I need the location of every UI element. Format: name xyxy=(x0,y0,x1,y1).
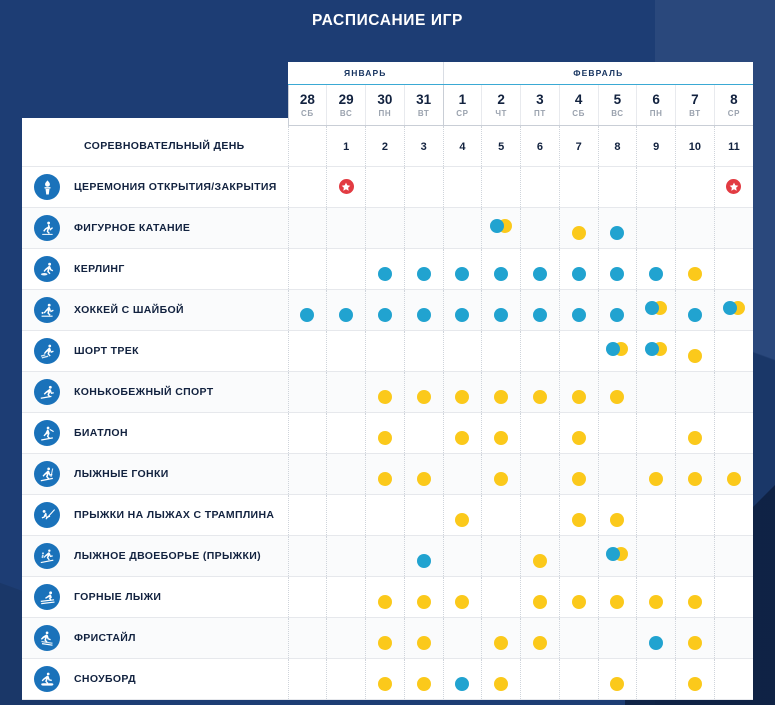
final-marker xyxy=(688,472,702,486)
yellow-dot-icon xyxy=(688,267,702,281)
schedule-cell[interactable] xyxy=(366,249,405,290)
blue-dot-icon xyxy=(417,267,431,281)
schedule-cell[interactable] xyxy=(404,249,443,290)
schedule-cell[interactable] xyxy=(482,290,521,331)
schedule-cell[interactable] xyxy=(327,167,366,208)
yellow-dot-icon xyxy=(688,636,702,650)
schedule-cell[interactable] xyxy=(288,290,327,331)
schedule-cell[interactable] xyxy=(637,290,676,331)
schedule-cell[interactable] xyxy=(366,290,405,331)
schedule-cell[interactable] xyxy=(443,372,482,413)
schedule-cell[interactable] xyxy=(676,249,715,290)
blue-dot-icon xyxy=(645,301,659,315)
date-header-5-ВС[interactable]: 5ВС xyxy=(598,85,637,126)
schedule-cell[interactable] xyxy=(521,249,560,290)
schedule-cell[interactable] xyxy=(366,331,405,372)
schedule-cell[interactable] xyxy=(598,495,637,536)
schedule-cell[interactable] xyxy=(404,331,443,372)
schedule-cell[interactable] xyxy=(559,454,598,495)
sport-label: ЛЫЖНОЕ ДВОЕБОРЬЕ (ПРЫЖКИ) xyxy=(74,550,261,562)
schedule-cell[interactable] xyxy=(637,208,676,249)
schedule-cell[interactable] xyxy=(637,454,676,495)
schedule-cell[interactable] xyxy=(482,208,521,249)
yellow-dot-icon xyxy=(494,677,508,691)
schedule-cell[interactable] xyxy=(327,577,366,618)
yellow-dot-icon xyxy=(378,390,392,404)
schedule-cell[interactable] xyxy=(404,495,443,536)
date-weekday: ВТ xyxy=(676,109,714,118)
date-header-4-СБ[interactable]: 4СБ xyxy=(559,85,598,126)
competition-day-number: 5 xyxy=(498,141,504,153)
schedule-cell[interactable] xyxy=(366,659,405,700)
short-track-icon xyxy=(34,338,60,364)
date-header-31-ВТ[interactable]: 31ВТ xyxy=(404,85,443,126)
schedule-cell[interactable] xyxy=(521,372,560,413)
schedule-cell[interactable] xyxy=(288,331,327,372)
qualification-and-final-marker xyxy=(606,547,628,561)
schedule-row: ШОРТ ТРЕК xyxy=(22,331,753,372)
schedule-cell[interactable] xyxy=(521,454,560,495)
yellow-dot-icon xyxy=(533,390,547,404)
schedule-cell[interactable] xyxy=(288,413,327,454)
date-number: 30 xyxy=(366,93,404,107)
schedule-cell[interactable] xyxy=(598,167,637,208)
schedule-cell[interactable] xyxy=(482,618,521,659)
schedule-cell[interactable] xyxy=(714,372,753,413)
schedule-cell[interactable] xyxy=(288,454,327,495)
schedule-cell[interactable] xyxy=(676,659,715,700)
schedule-cell[interactable] xyxy=(288,208,327,249)
schedule-cell[interactable] xyxy=(559,413,598,454)
schedule-cell[interactable] xyxy=(327,454,366,495)
schedule-cell[interactable] xyxy=(676,167,715,208)
schedule-cell[interactable] xyxy=(482,495,521,536)
schedule-cell[interactable] xyxy=(598,577,637,618)
final-marker xyxy=(727,472,741,486)
schedule-cell[interactable] xyxy=(714,331,753,372)
schedule-cell[interactable] xyxy=(327,372,366,413)
schedule-cell[interactable] xyxy=(637,536,676,577)
schedule-cell[interactable] xyxy=(366,577,405,618)
schedule-cell[interactable] xyxy=(637,495,676,536)
qualification-and-final-marker xyxy=(490,219,512,233)
final-marker xyxy=(417,677,431,691)
schedule-cell[interactable] xyxy=(637,167,676,208)
schedule-cell[interactable] xyxy=(714,536,753,577)
final-marker xyxy=(688,349,702,363)
sport-label-cell[interactable]: ЦЕРЕМОНИЯ ОТКРЫТИЯ/ЗАКРЫТИЯ xyxy=(22,167,288,208)
schedule-cell[interactable] xyxy=(637,372,676,413)
schedule-cell[interactable] xyxy=(288,618,327,659)
schedule-row: ЛЫЖНОЕ ДВОЕБОРЬЕ (ПРЫЖКИ) xyxy=(22,536,753,577)
schedule-cell[interactable] xyxy=(559,495,598,536)
schedule-cell[interactable] xyxy=(559,290,598,331)
date-weekday: ЧТ xyxy=(482,109,520,118)
schedule-cell[interactable] xyxy=(482,659,521,700)
final-marker xyxy=(610,595,624,609)
blue-dot-icon xyxy=(490,219,504,233)
schedule-cell[interactable] xyxy=(482,413,521,454)
yellow-dot-icon xyxy=(688,349,702,363)
competition-day-cell-6: 5 xyxy=(482,126,521,167)
final-marker xyxy=(610,677,624,691)
schedule-cell[interactable] xyxy=(404,659,443,700)
competition-day-number: 2 xyxy=(382,141,388,153)
schedule-cell[interactable] xyxy=(288,167,327,208)
qualification-marker xyxy=(417,267,431,281)
sport-label: ЦЕРЕМОНИЯ ОТКРЫТИЯ/ЗАКРЫТИЯ xyxy=(74,181,277,193)
yellow-dot-icon xyxy=(417,390,431,404)
schedule-cell[interactable] xyxy=(559,167,598,208)
sport-label: ШОРТ ТРЕК xyxy=(74,345,139,357)
schedule-cell[interactable] xyxy=(637,249,676,290)
schedule-cell[interactable] xyxy=(676,331,715,372)
yellow-dot-icon xyxy=(610,677,624,691)
schedule-cell[interactable] xyxy=(443,331,482,372)
schedule-cell[interactable] xyxy=(521,659,560,700)
schedule-cell[interactable] xyxy=(559,208,598,249)
final-marker xyxy=(455,595,469,609)
schedule-cell[interactable] xyxy=(443,495,482,536)
schedule-cell[interactable] xyxy=(714,454,753,495)
schedule-cell[interactable] xyxy=(288,577,327,618)
date-header-8-СР[interactable]: 8СР xyxy=(714,85,753,126)
qualification-marker xyxy=(649,636,663,650)
blue-dot-icon xyxy=(572,267,586,281)
schedule-cell[interactable] xyxy=(366,167,405,208)
sport-label-cell[interactable]: ФИГУРНОЕ КАТАНИЕ xyxy=(22,208,288,249)
date-header-7-ВТ[interactable]: 7ВТ xyxy=(676,85,715,126)
schedule-cell[interactable] xyxy=(598,454,637,495)
schedule-cell[interactable] xyxy=(676,290,715,331)
sport-label: ЛЫЖНЫЕ ГОНКИ xyxy=(74,468,169,480)
yellow-dot-icon xyxy=(688,595,702,609)
schedule-cell[interactable] xyxy=(521,331,560,372)
schedule-cell[interactable] xyxy=(288,249,327,290)
schedule-cell[interactable] xyxy=(559,249,598,290)
yellow-dot-icon xyxy=(688,431,702,445)
schedule-cell[interactable] xyxy=(598,413,637,454)
sport-label-cell[interactable]: ЛЫЖНЫЕ ГОНКИ xyxy=(22,454,288,495)
sport-label-cell[interactable]: КЕРЛИНГ xyxy=(22,249,288,290)
competition-day-number: 11 xyxy=(728,141,740,153)
date-header-6-ПН[interactable]: 6ПН xyxy=(637,85,676,126)
date-header-29-ВС[interactable]: 29ВС xyxy=(327,85,366,126)
yellow-dot-icon xyxy=(610,595,624,609)
date-number: 6 xyxy=(637,93,675,107)
competition-day-row: СОРЕВНОВАТЕЛЬНЫЙ ДЕНЬ1234567891011 xyxy=(22,126,753,167)
sport-label-cell[interactable]: ФРИСТАЙЛ xyxy=(22,618,288,659)
schedule-cell[interactable] xyxy=(598,249,637,290)
schedule-cell[interactable] xyxy=(482,167,521,208)
final-marker xyxy=(572,513,586,527)
schedule-cell[interactable] xyxy=(521,167,560,208)
schedule-cell[interactable] xyxy=(521,413,560,454)
schedule-cell[interactable] xyxy=(327,413,366,454)
date-number: 5 xyxy=(599,93,637,107)
schedule-cell[interactable] xyxy=(521,290,560,331)
schedule-cell[interactable] xyxy=(482,331,521,372)
schedule-cell[interactable] xyxy=(521,577,560,618)
schedule-cell[interactable] xyxy=(637,413,676,454)
schedule-cell[interactable] xyxy=(443,290,482,331)
schedule-cell[interactable] xyxy=(443,536,482,577)
sport-label-cell[interactable]: ЛЫЖНОЕ ДВОЕБОРЬЕ (ПРЫЖКИ) xyxy=(22,536,288,577)
sport-label-cell[interactable]: ХОККЕЙ С ШАЙБОЙ xyxy=(22,290,288,331)
schedule-row: ЦЕРЕМОНИЯ ОТКРЫТИЯ/ЗАКРЫТИЯ xyxy=(22,167,753,208)
schedule-row: СНОУБОРД xyxy=(22,659,753,700)
yellow-dot-icon xyxy=(572,595,586,609)
schedule-cell[interactable] xyxy=(598,372,637,413)
blue-dot-icon xyxy=(572,308,586,322)
schedule-cell[interactable] xyxy=(482,372,521,413)
schedule-cell[interactable] xyxy=(366,536,405,577)
schedule-cell[interactable] xyxy=(559,659,598,700)
sport-label: ХОККЕЙ С ШАЙБОЙ xyxy=(74,304,184,316)
schedule-cell[interactable] xyxy=(598,208,637,249)
schedule-cell[interactable] xyxy=(366,495,405,536)
yellow-dot-icon xyxy=(455,390,469,404)
schedule-cell[interactable] xyxy=(637,331,676,372)
schedule-cell[interactable] xyxy=(598,618,637,659)
date-header-30-ПН[interactable]: 30ПН xyxy=(366,85,405,126)
date-header-28-СБ[interactable]: 28СБ xyxy=(288,85,327,126)
schedule-cell[interactable] xyxy=(676,372,715,413)
yellow-dot-icon xyxy=(417,595,431,609)
qualification-marker xyxy=(572,267,586,281)
schedule-cell[interactable] xyxy=(559,331,598,372)
blue-dot-icon xyxy=(649,636,663,650)
competition-day-number: 6 xyxy=(537,141,543,153)
ski-jumping-icon xyxy=(34,502,60,528)
date-header-1-СР[interactable]: 1СР xyxy=(443,85,482,126)
ceremony-star-icon xyxy=(339,179,354,194)
blue-dot-icon xyxy=(494,308,508,322)
schedule-cell[interactable] xyxy=(714,577,753,618)
blue-dot-icon xyxy=(455,308,469,322)
schedule-cell[interactable] xyxy=(404,208,443,249)
yellow-dot-icon xyxy=(494,390,508,404)
month-header-spacer xyxy=(22,62,288,85)
sport-label: КОНЬКОБЕЖНЫЙ СПОРТ xyxy=(74,386,214,398)
qualification-marker xyxy=(649,267,663,281)
schedule-cell[interactable] xyxy=(714,413,753,454)
final-marker xyxy=(378,636,392,650)
competition-day-cell-2: 1 xyxy=(327,126,366,167)
final-marker xyxy=(572,390,586,404)
schedule-cell[interactable] xyxy=(714,167,753,208)
blue-dot-icon xyxy=(606,547,620,561)
schedule-cell[interactable] xyxy=(676,618,715,659)
schedule-cell[interactable] xyxy=(598,331,637,372)
schedule-cell[interactable] xyxy=(521,618,560,659)
schedule-row: ФРИСТАЙЛ xyxy=(22,618,753,659)
schedule-cell[interactable] xyxy=(521,208,560,249)
schedule-cell[interactable] xyxy=(637,659,676,700)
schedule-cell[interactable] xyxy=(404,618,443,659)
schedule-cell[interactable] xyxy=(404,167,443,208)
competition-day-number: 8 xyxy=(614,141,620,153)
schedule-cell[interactable] xyxy=(676,536,715,577)
final-marker xyxy=(688,595,702,609)
schedule-cell[interactable] xyxy=(676,413,715,454)
schedule-cell[interactable] xyxy=(714,659,753,700)
schedule-cell[interactable] xyxy=(676,454,715,495)
schedule-cell[interactable] xyxy=(521,495,560,536)
sport-label-cell[interactable]: БИАТЛОН xyxy=(22,413,288,454)
final-marker xyxy=(417,472,431,486)
schedule-cell[interactable] xyxy=(288,495,327,536)
schedule-cell[interactable] xyxy=(327,249,366,290)
final-marker xyxy=(378,431,392,445)
final-marker xyxy=(378,595,392,609)
sport-label: ГОРНЫЕ ЛЫЖИ xyxy=(74,591,161,603)
schedule-cell[interactable] xyxy=(288,659,327,700)
date-number: 7 xyxy=(676,93,714,107)
competition-day-cell-12: 11 xyxy=(714,126,753,167)
schedule-cell[interactable] xyxy=(559,618,598,659)
schedule-cell[interactable] xyxy=(327,536,366,577)
schedule-cell[interactable] xyxy=(559,536,598,577)
qualification-marker xyxy=(300,308,314,322)
qualification-marker xyxy=(339,308,353,322)
schedule-table: ЯНВАРЬФЕВРАЛЬ 28СБ29ВС30ПН31ВТ1СР2ЧТ3ПТ4… xyxy=(22,62,753,700)
schedule-cell[interactable] xyxy=(327,208,366,249)
figure-skating-icon xyxy=(34,215,60,241)
schedule-cell[interactable] xyxy=(404,413,443,454)
schedule-cell[interactable] xyxy=(327,659,366,700)
sport-label-cell[interactable]: ПРЫЖКИ НА ЛЫЖАХ С ТРАМПЛИНА xyxy=(22,495,288,536)
schedule-cell[interactable] xyxy=(559,372,598,413)
biathlon-icon xyxy=(34,420,60,446)
qualification-marker xyxy=(417,554,431,568)
curling-icon xyxy=(34,256,60,282)
schedule-cell[interactable] xyxy=(443,413,482,454)
final-marker xyxy=(572,431,586,445)
schedule-cell[interactable] xyxy=(366,208,405,249)
date-weekday: СР xyxy=(715,109,753,118)
date-weekday: ПН xyxy=(637,109,675,118)
sport-label-cell[interactable]: КОНЬКОБЕЖНЫЙ СПОРТ xyxy=(22,372,288,413)
schedule-cell[interactable] xyxy=(676,208,715,249)
date-weekday: СР xyxy=(444,109,482,118)
schedule-row: КОНЬКОБЕЖНЫЙ СПОРТ xyxy=(22,372,753,413)
yellow-dot-icon xyxy=(649,472,663,486)
yellow-dot-icon xyxy=(455,513,469,527)
competition-day-cell-1 xyxy=(288,126,327,167)
schedule-cell[interactable] xyxy=(366,454,405,495)
schedule-cell[interactable] xyxy=(404,454,443,495)
blue-dot-icon xyxy=(610,226,624,240)
schedule-cell[interactable] xyxy=(714,290,753,331)
schedule-cell[interactable] xyxy=(714,618,753,659)
final-marker xyxy=(688,677,702,691)
schedule-cell[interactable] xyxy=(598,290,637,331)
schedule-cell[interactable] xyxy=(482,249,521,290)
sport-label-cell[interactable]: СНОУБОРД xyxy=(22,659,288,700)
schedule-cell[interactable] xyxy=(482,454,521,495)
date-header-3-ПТ[interactable]: 3ПТ xyxy=(521,85,560,126)
schedule-cell[interactable] xyxy=(327,495,366,536)
qualification-and-final-marker xyxy=(606,342,628,356)
schedule-cell[interactable] xyxy=(676,577,715,618)
yellow-dot-icon xyxy=(572,513,586,527)
sport-label-cell[interactable]: ГОРНЫЕ ЛЫЖИ xyxy=(22,577,288,618)
schedule-cell[interactable] xyxy=(327,290,366,331)
schedule-cell[interactable] xyxy=(637,618,676,659)
schedule-cell[interactable] xyxy=(714,495,753,536)
yellow-dot-icon xyxy=(494,472,508,486)
schedule-cell[interactable] xyxy=(366,372,405,413)
blue-dot-icon xyxy=(610,308,624,322)
alpine-skiing-icon xyxy=(34,584,60,610)
yellow-dot-icon xyxy=(378,677,392,691)
schedule-cell[interactable] xyxy=(366,413,405,454)
schedule-cell[interactable] xyxy=(714,249,753,290)
yellow-dot-icon xyxy=(727,472,741,486)
schedule-cell[interactable] xyxy=(443,249,482,290)
schedule-cell[interactable] xyxy=(714,208,753,249)
schedule-cell[interactable] xyxy=(327,618,366,659)
final-marker xyxy=(688,636,702,650)
date-number: 2 xyxy=(482,93,520,107)
schedule-cell[interactable] xyxy=(288,372,327,413)
final-marker xyxy=(572,226,586,240)
qualification-marker xyxy=(572,308,586,322)
final-marker xyxy=(533,636,547,650)
date-header-2-ЧТ[interactable]: 2ЧТ xyxy=(482,85,521,126)
sport-label: СНОУБОРД xyxy=(74,673,136,685)
schedule-cell[interactable] xyxy=(366,618,405,659)
qualification-marker xyxy=(494,308,508,322)
schedule-cell[interactable] xyxy=(288,536,327,577)
schedule-cell[interactable] xyxy=(443,454,482,495)
schedule-cell[interactable] xyxy=(482,577,521,618)
final-marker xyxy=(494,472,508,486)
competition-day-label: СОРЕВНОВАТЕЛЬНЫЙ ДЕНЬ xyxy=(84,140,245,152)
sport-label: ФРИСТАЙЛ xyxy=(74,632,136,644)
schedule-cell[interactable] xyxy=(598,659,637,700)
competition-day-number: 9 xyxy=(653,141,659,153)
sport-label: ФИГУРНОЕ КАТАНИЕ xyxy=(74,222,190,234)
schedule-cell[interactable] xyxy=(443,618,482,659)
competition-day-number: 7 xyxy=(576,141,582,153)
schedule-cell[interactable] xyxy=(637,577,676,618)
sport-label-cell[interactable]: ШОРТ ТРЕК xyxy=(22,331,288,372)
yellow-dot-icon xyxy=(417,636,431,650)
schedule-cell[interactable] xyxy=(404,372,443,413)
schedule-cell[interactable] xyxy=(521,536,560,577)
schedule-cell[interactable] xyxy=(443,659,482,700)
schedule-cell[interactable] xyxy=(327,331,366,372)
yellow-dot-icon xyxy=(455,431,469,445)
yellow-dot-icon xyxy=(572,390,586,404)
schedule-cell[interactable] xyxy=(598,536,637,577)
competition-day-cell-9: 8 xyxy=(598,126,637,167)
sport-label: КЕРЛИНГ xyxy=(74,263,125,275)
schedule-cell[interactable] xyxy=(443,208,482,249)
schedule-cell[interactable] xyxy=(559,577,598,618)
schedule-cell[interactable] xyxy=(443,577,482,618)
schedule-cell[interactable] xyxy=(676,495,715,536)
schedule-cell[interactable] xyxy=(404,290,443,331)
competition-day-number: 1 xyxy=(343,141,349,153)
schedule-board: ЯНВАРЬФЕВРАЛЬ 28СБ29ВС30ПН31ВТ1СР2ЧТ3ПТ4… xyxy=(0,0,775,705)
schedule-cell[interactable] xyxy=(482,536,521,577)
schedule-cell[interactable] xyxy=(443,167,482,208)
schedule-cell[interactable] xyxy=(404,536,443,577)
schedule-cell[interactable] xyxy=(404,577,443,618)
